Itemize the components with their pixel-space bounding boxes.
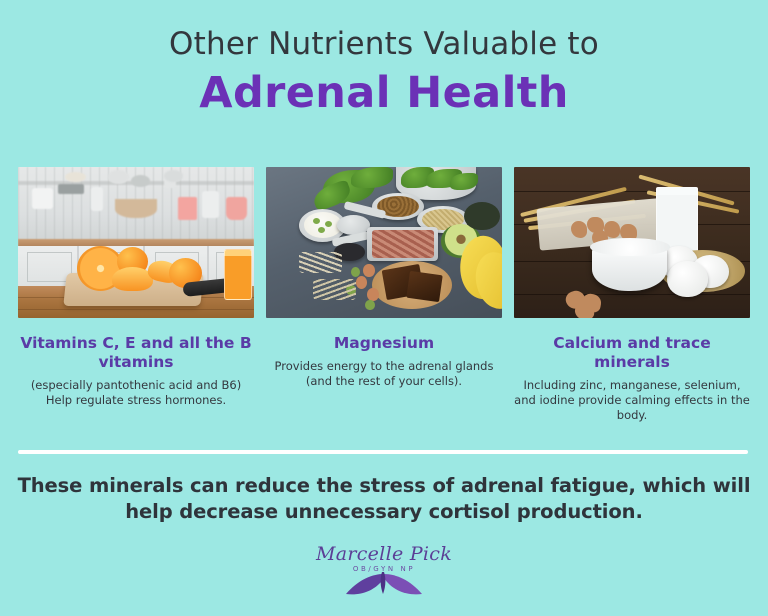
nutrient-column-vitamins: Vitamins C, E and all the B vitamins (es… bbox=[18, 167, 254, 423]
title-line-1: Other Nutrients Valuable to bbox=[0, 26, 768, 62]
brand-logo: Marcelle Pick OB/GYN NP bbox=[0, 542, 768, 598]
column-body: Including zinc, manganese, selenium, and… bbox=[514, 378, 750, 423]
column-heading: Calcium and trace minerals bbox=[514, 334, 750, 372]
photo-calcium-foods bbox=[514, 167, 750, 318]
title-line-2: Adrenal Health bbox=[0, 67, 768, 119]
nutrient-columns: Vitamins C, E and all the B vitamins (es… bbox=[18, 167, 750, 423]
logo-name: Marcelle Pick bbox=[309, 542, 459, 566]
photo-oranges bbox=[18, 167, 254, 318]
photo-magnesium-foods bbox=[266, 167, 502, 318]
nutrient-column-magnesium: Magnesium Provides energy to the adrenal… bbox=[266, 167, 502, 423]
section-divider bbox=[18, 450, 748, 454]
column-body: Provides energy to the adrenal glands (a… bbox=[266, 359, 502, 389]
poster-header: Other Nutrients Valuable to Adrenal Heal… bbox=[0, 0, 768, 119]
leaf-flourish-icon bbox=[336, 570, 432, 596]
column-heading: Vitamins C, E and all the B vitamins bbox=[18, 334, 254, 372]
infographic-poster: Other Nutrients Valuable to Adrenal Heal… bbox=[0, 0, 768, 616]
column-heading: Magnesium bbox=[334, 334, 434, 353]
nutrient-column-calcium: Calcium and trace minerals Including zin… bbox=[514, 167, 750, 423]
summary-statement: These minerals can reduce the stress of … bbox=[0, 473, 768, 525]
column-body: (especially pantothenic acid and B6) Hel… bbox=[18, 378, 254, 408]
